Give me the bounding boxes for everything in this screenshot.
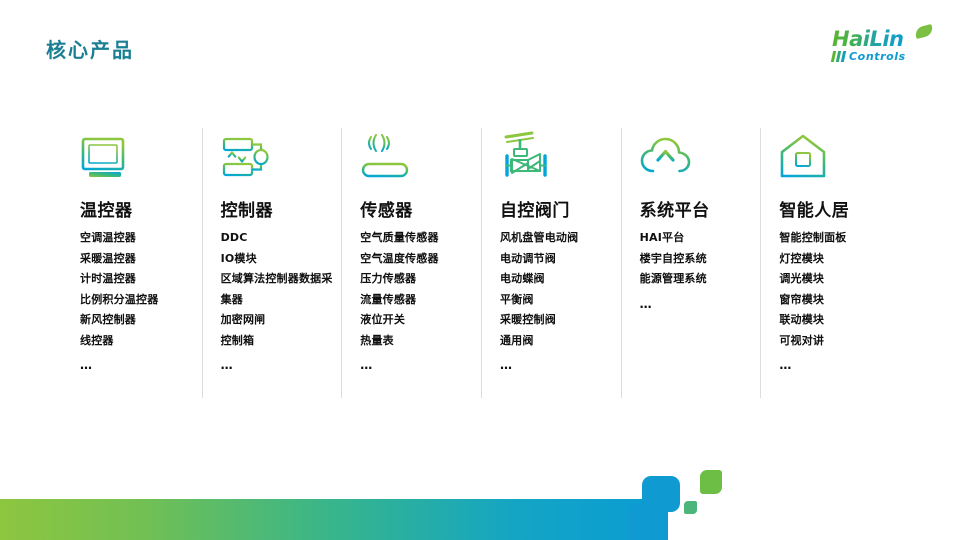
footer-gradient-bar xyxy=(0,499,642,540)
list-item: 空气温度传感器 xyxy=(360,249,479,270)
category-column-smarthome: 智能人居 智能控制面板 灯控模块 调光模块 窗帘模块 联动模块 可视对讲 … xyxy=(760,128,900,398)
list-item: 采暖温控器 xyxy=(80,249,200,270)
list-item: 灯控模块 xyxy=(779,249,898,270)
list-item: HAI平台 xyxy=(640,228,759,249)
logo-tagline: Controls xyxy=(849,51,906,63)
list-item: 调光模块 xyxy=(779,269,898,290)
category-title: 传感器 xyxy=(360,200,479,222)
footer-square-small xyxy=(684,501,697,514)
list-item: 计时温控器 xyxy=(80,269,200,290)
list-item: 流量传感器 xyxy=(360,290,479,311)
footer-notch-shape xyxy=(628,476,680,540)
category-item-list: 风机盘管电动阀 电动调节阀 电动蝶阀 平衡阀 采暖控制阀 通用阀 xyxy=(500,228,619,351)
list-ellipsis: … xyxy=(640,298,759,310)
category-item-list: HAI平台 楼宇自控系统 能源管理系统 xyxy=(640,228,759,290)
list-item: 热量表 xyxy=(360,331,479,352)
cloud-upload-icon xyxy=(640,128,759,180)
category-column-platform: 系统平台 HAI平台 楼宇自控系统 能源管理系统 … xyxy=(621,128,761,398)
list-ellipsis: … xyxy=(779,359,898,371)
category-column-thermostat: 温控器 空调温控器 采暖温控器 计时温控器 比例积分温控器 新风控制器 线控器 … xyxy=(80,128,202,398)
list-item: 窗帘模块 xyxy=(779,290,898,311)
list-ellipsis: … xyxy=(360,359,479,371)
list-ellipsis: … xyxy=(80,359,200,371)
list-item: DDC xyxy=(221,228,340,249)
list-item: 控制箱 xyxy=(221,331,340,352)
list-item: 通用阀 xyxy=(500,331,619,352)
logo-bars-icon xyxy=(832,51,845,62)
list-item: 能源管理系统 xyxy=(640,269,759,290)
logo-leaf-icon xyxy=(914,24,934,39)
list-item: 压力传感器 xyxy=(360,269,479,290)
category-title: 智能人居 xyxy=(779,200,898,222)
wireless-sensor-icon xyxy=(360,128,479,180)
list-item: 新风控制器 xyxy=(80,310,200,331)
list-item: 联动模块 xyxy=(779,310,898,331)
category-column-sensor: 传感器 空气质量传感器 空气温度传感器 压力传感器 流量传感器 液位开关 热量表… xyxy=(341,128,481,398)
category-title: 自控阀门 xyxy=(500,200,619,222)
list-item: 电动蝶阀 xyxy=(500,269,619,290)
list-ellipsis: … xyxy=(221,359,340,371)
list-item: 采暖控制阀 xyxy=(500,310,619,331)
category-title: 控制器 xyxy=(221,200,340,222)
category-item-list: 空调温控器 采暖温控器 计时温控器 比例积分温控器 新风控制器 线控器 xyxy=(80,228,200,351)
list-item: 智能控制面板 xyxy=(779,228,898,249)
list-ellipsis: … xyxy=(500,359,619,371)
list-item: 平衡阀 xyxy=(500,290,619,311)
monitor-icon xyxy=(80,128,200,180)
valve-icon xyxy=(500,128,619,180)
list-item: 电动调节阀 xyxy=(500,249,619,270)
list-item: 比例积分温控器 xyxy=(80,290,200,311)
list-item: 楼宇自控系统 xyxy=(640,249,759,270)
smart-home-chip-icon xyxy=(779,128,898,180)
category-column-controller: 控制器 DDC IO模块 区域算法控制器数据采集器 加密网闸 控制箱 … xyxy=(202,128,342,398)
brand-logo: HaiLin Controls xyxy=(820,28,936,66)
category-item-list: 空气质量传感器 空气温度传感器 压力传感器 流量传感器 液位开关 热量表 xyxy=(360,228,479,351)
logo-tagline-group: Controls xyxy=(832,50,906,63)
logo-wordmark: HaiLin xyxy=(832,28,903,50)
footer-notch-bottom xyxy=(628,504,668,540)
product-category-columns: 温控器 空调温控器 采暖温控器 计时温控器 比例积分温控器 新风控制器 线控器 … xyxy=(80,128,900,398)
category-column-valve: 自控阀门 风机盘管电动阀 电动调节阀 电动蝶阀 平衡阀 采暖控制阀 通用阀 … xyxy=(481,128,621,398)
list-item: 风机盘管电动阀 xyxy=(500,228,619,249)
list-item: 线控器 xyxy=(80,331,200,352)
slide-canvas: 核心产品 HaiLin Controls 温控器 空调温控器 采暖温控器 计时温… xyxy=(0,0,960,540)
list-item: 区域算法控制器数据采集器 xyxy=(221,269,340,310)
list-item: 可视对讲 xyxy=(779,331,898,352)
list-item: IO模块 xyxy=(221,249,340,270)
list-item: 空气质量传感器 xyxy=(360,228,479,249)
page-title: 核心产品 xyxy=(46,36,134,64)
category-title: 温控器 xyxy=(80,200,200,222)
list-item: 液位开关 xyxy=(360,310,479,331)
list-item: 空调温控器 xyxy=(80,228,200,249)
category-item-list: DDC IO模块 区域算法控制器数据采集器 加密网闸 控制箱 xyxy=(221,228,340,351)
list-item: 加密网闸 xyxy=(221,310,340,331)
footer-square-large xyxy=(700,470,722,494)
controller-module-icon xyxy=(221,128,340,180)
category-title: 系统平台 xyxy=(640,200,759,222)
category-item-list: 智能控制面板 灯控模块 调光模块 窗帘模块 联动模块 可视对讲 xyxy=(779,228,898,351)
